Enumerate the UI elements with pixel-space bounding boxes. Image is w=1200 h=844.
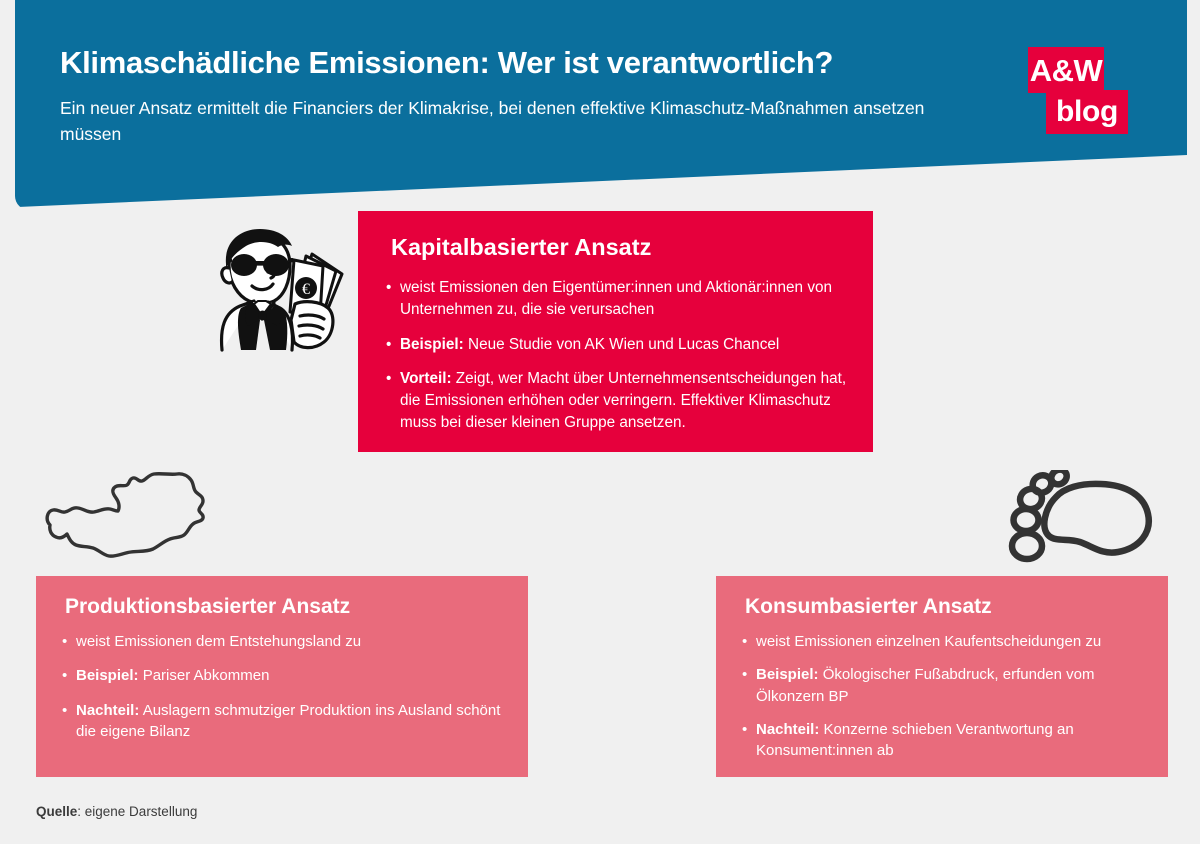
card-produktionsbasierter-ansatz: Produktionsbasierter Ansatz weist Emissi… — [36, 576, 528, 777]
bullet-lead: Beispiel: — [400, 336, 464, 353]
list-item: Beispiel: Neue Studie von AK Wien und Lu… — [386, 334, 847, 356]
bullet-text: Pariser Abkommen — [139, 667, 270, 684]
bullet-lead: Nachteil: — [756, 721, 819, 738]
man-with-money-icon: € — [196, 216, 344, 352]
bullet-list-capital: weist Emissionen den Eigentümer:innen un… — [386, 277, 847, 433]
bullet-text: weist Emissionen dem Entstehungsland zu — [76, 633, 361, 650]
infographic-page: Klimaschädliche Emissionen: Wer ist vera… — [0, 0, 1200, 844]
bullet-text: Auslagern schmutziger Produktion ins Aus… — [76, 702, 500, 740]
list-item: Nachteil: Auslagern schmutziger Produkti… — [62, 700, 506, 743]
list-item: weist Emissionen den Eigentümer:innen un… — [386, 277, 847, 320]
bullet-lead: Beispiel: — [756, 666, 819, 683]
source-value: : eigene Darstellung — [77, 804, 197, 819]
card-title-capital: Kapitalbasierter Ansatz — [386, 233, 847, 261]
footprint-icon — [1004, 470, 1162, 566]
austria-map-icon — [36, 470, 218, 562]
bullet-text: Neue Studie von AK Wien und Lucas Chance… — [464, 336, 779, 353]
card-title-consumption: Konsumbasierter Ansatz — [742, 594, 1146, 619]
list-item: Beispiel: Pariser Abkommen — [62, 665, 506, 686]
list-item: Beispiel: Ökologischer Fußabdruck, erfun… — [742, 664, 1146, 707]
list-item: Nachteil: Konzerne schieben Verantwortun… — [742, 719, 1146, 762]
header-text-block: Klimaschädliche Emissionen: Wer ist vera… — [60, 45, 1010, 147]
bullet-text: Zeigt, wer Macht über Unternehmensentsch… — [400, 370, 846, 430]
card-kapitalbasierter-ansatz: Kapitalbasierter Ansatz weist Emissionen… — [358, 211, 873, 452]
source-label: Quelle — [36, 804, 77, 819]
bullet-list-consumption: weist Emissionen einzelnen Kaufentscheid… — [742, 631, 1146, 761]
bullet-text: weist Emissionen den Eigentümer:innen un… — [400, 279, 832, 318]
source-note: Quelle: eigene Darstellung — [36, 804, 197, 819]
bullet-lead: Vorteil: — [400, 370, 452, 387]
logo-line-blog: blog — [1046, 90, 1128, 134]
header-banner: Klimaschädliche Emissionen: Wer ist vera… — [15, 0, 1187, 210]
bullet-lead: Nachteil: — [76, 702, 139, 719]
bullet-list-production: weist Emissionen dem Entstehungsland zu … — [62, 631, 506, 742]
list-item: weist Emissionen dem Entstehungsland zu — [62, 631, 506, 652]
list-item: weist Emissionen einzelnen Kaufentscheid… — [742, 631, 1146, 652]
card-title-production: Produktionsbasierter Ansatz — [62, 594, 506, 619]
card-konsumbasierter-ansatz: Konsumbasierter Ansatz weist Emissionen … — [716, 576, 1168, 777]
page-title: Klimaschädliche Emissionen: Wer ist vera… — [60, 45, 1010, 81]
svg-text:€: € — [302, 281, 310, 298]
aw-blog-logo[interactable]: A&W blog — [1028, 47, 1138, 135]
list-item: Vorteil: Zeigt, wer Macht über Unternehm… — [386, 368, 847, 433]
bullet-text: weist Emissionen einzelnen Kaufentscheid… — [756, 633, 1101, 650]
page-subtitle: Ein neuer Ansatz ermittelt die Financier… — [60, 95, 990, 148]
bullet-lead: Beispiel: — [76, 667, 139, 684]
logo-line-aw: A&W — [1028, 47, 1104, 93]
